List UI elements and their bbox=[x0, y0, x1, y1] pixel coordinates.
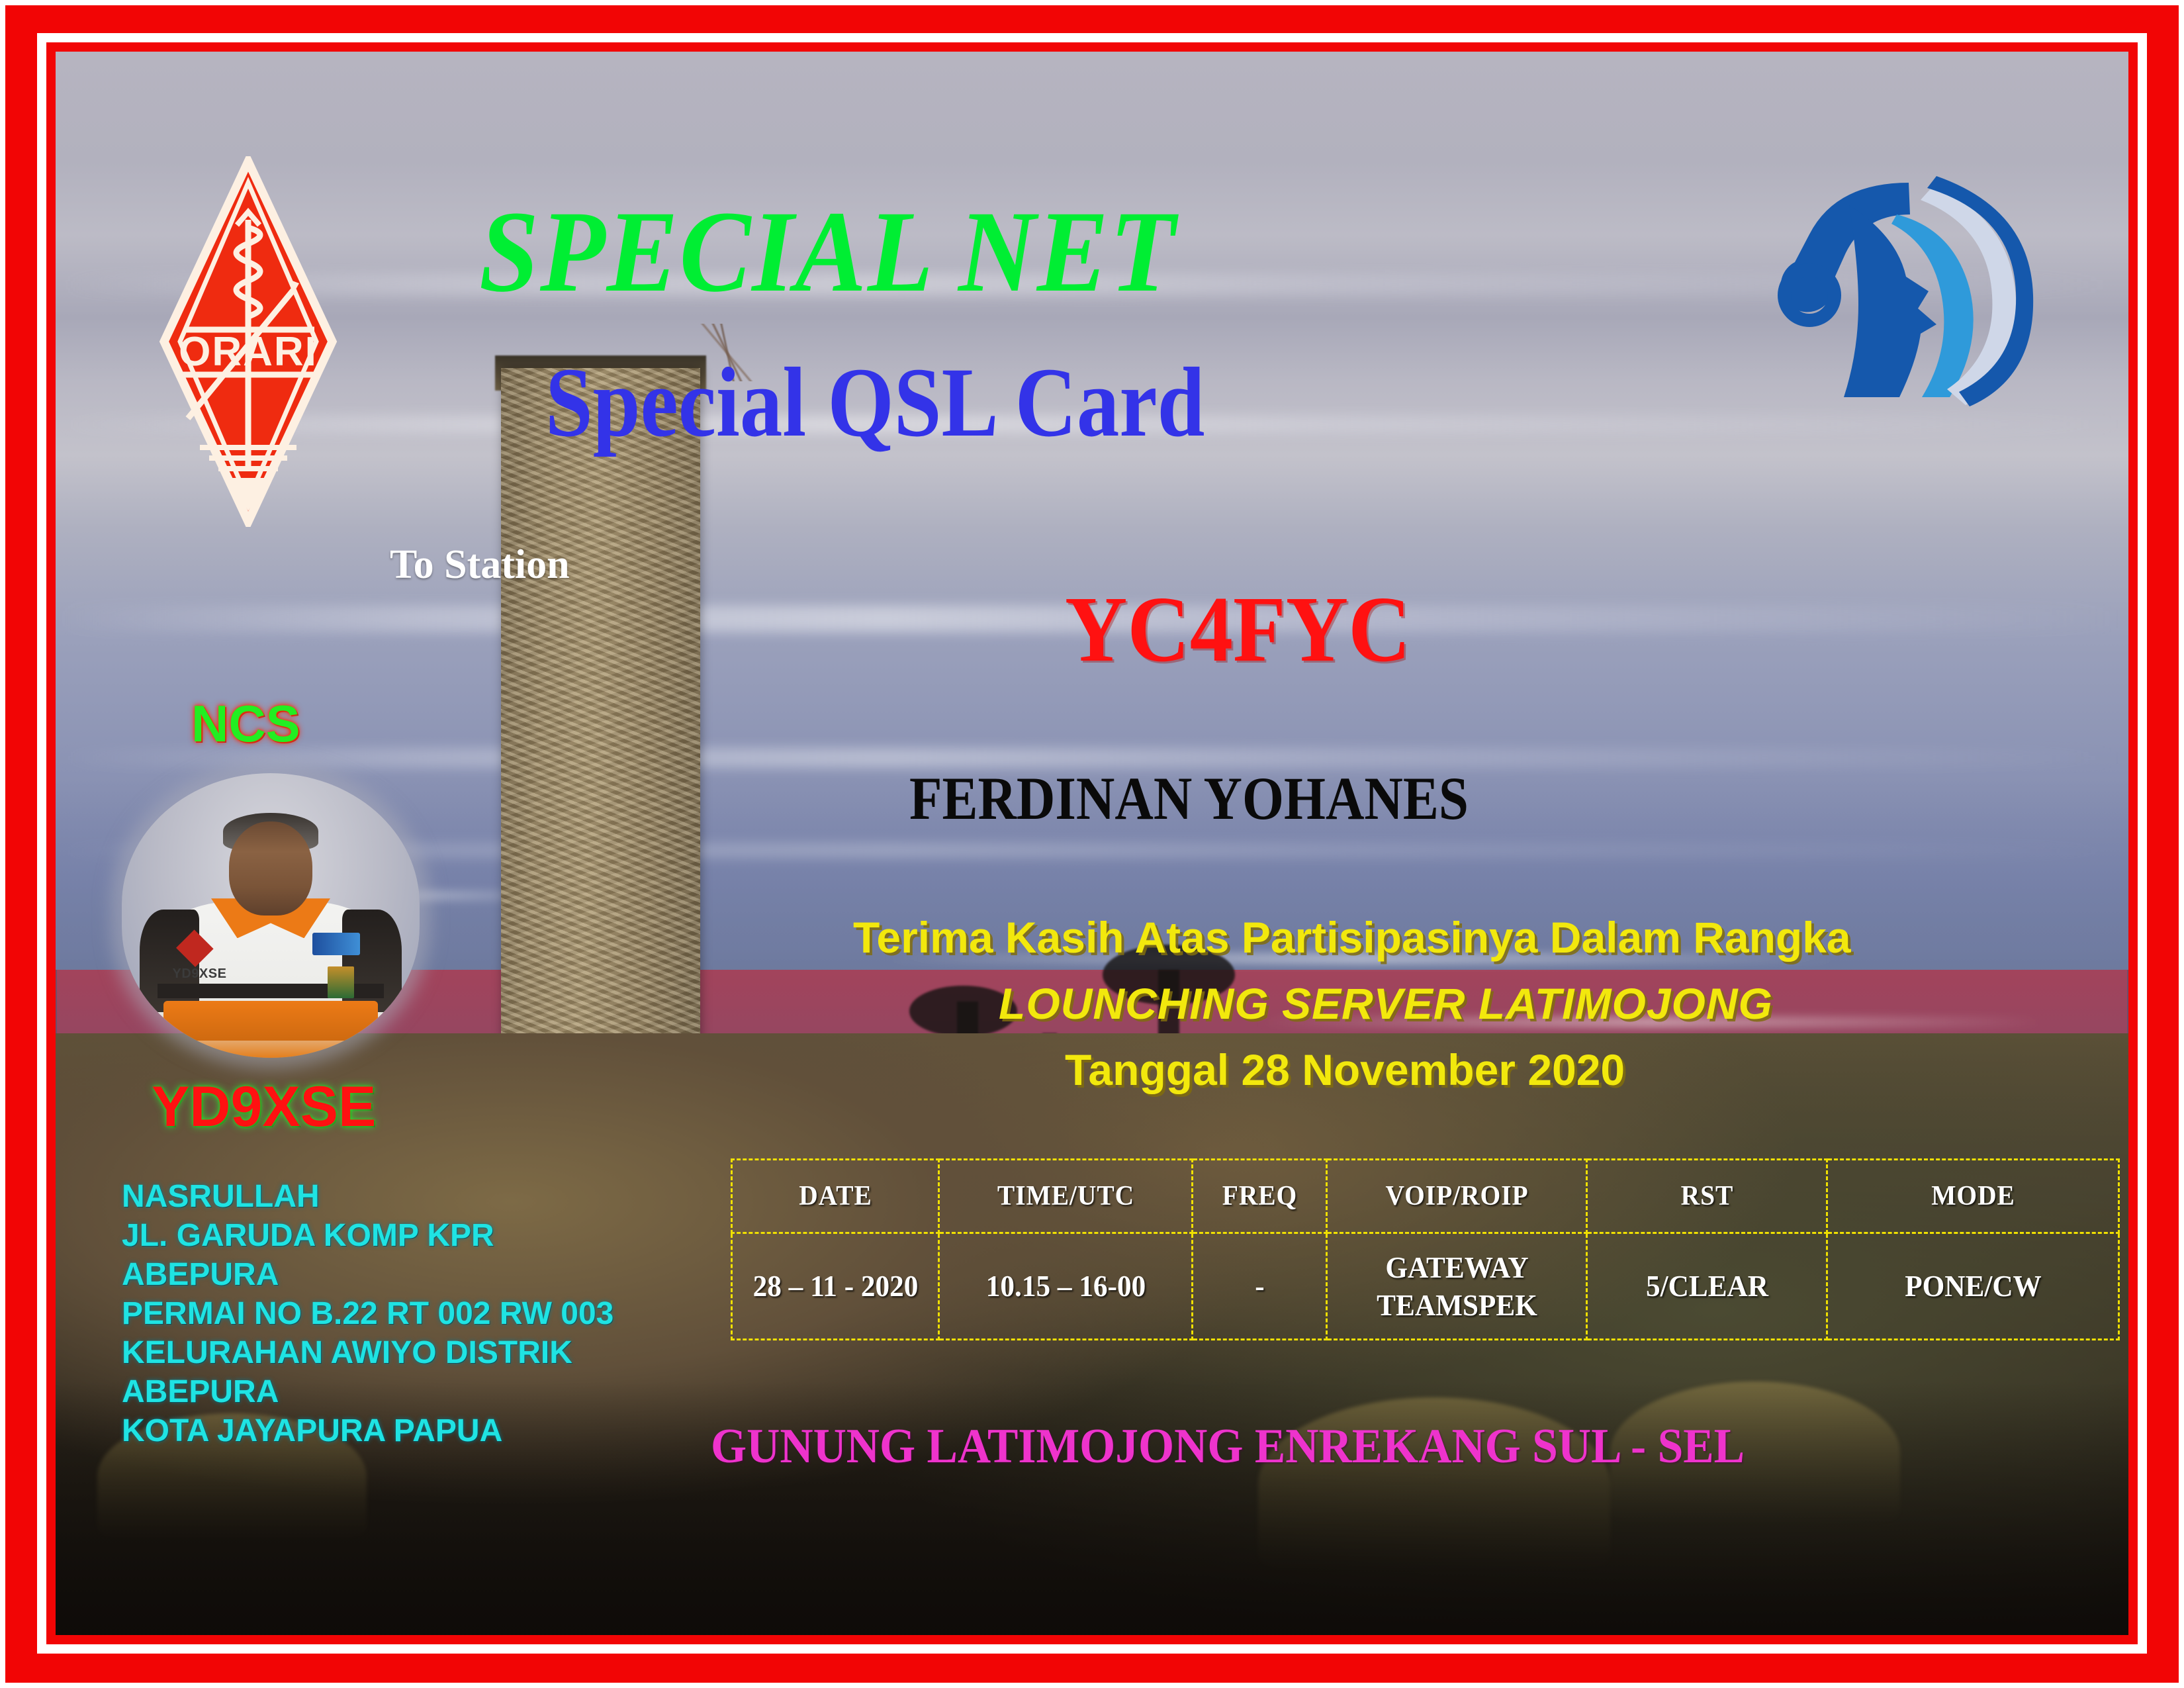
echolink-logo bbox=[1771, 158, 2036, 409]
avatar: YD9XSE bbox=[122, 773, 420, 1058]
page-subtitle: Special QSL Card bbox=[545, 353, 1205, 452]
ncs-portrait: YD9XSE bbox=[122, 773, 420, 1058]
table-header-row: DATE TIME/UTC FREQ VOIP/ROIP RST MODE bbox=[732, 1160, 2119, 1233]
address-line: ABEPURA bbox=[122, 1255, 614, 1294]
column-header-date: DATE bbox=[738, 1160, 933, 1233]
cell-voip-line1: GATEWAY bbox=[1336, 1248, 1578, 1287]
column-header-freq: FREQ bbox=[1197, 1160, 1323, 1233]
page-title: SPECIAL NET bbox=[479, 194, 1176, 310]
cell-date: 28 – 11 - 2020 bbox=[738, 1233, 933, 1340]
portrait-sash bbox=[163, 1001, 378, 1041]
thanks-line: Terima Kasih Atas Partisipasinya Dalam R… bbox=[853, 912, 1851, 962]
portrait-callsign-patch: YD9XSE bbox=[173, 966, 227, 982]
cell-time: 10.15 – 16-00 bbox=[946, 1233, 1185, 1340]
cell-rst: 5/CLEAR bbox=[1594, 1233, 1819, 1340]
portrait-face bbox=[229, 821, 312, 915]
column-header-mode: MODE bbox=[1836, 1160, 2111, 1233]
cell-mode: PONE/CW bbox=[1836, 1233, 2111, 1340]
address-line: KOTA JAYAPURA PAPUA bbox=[122, 1411, 614, 1450]
cell-voip-line2: TEAMSPEK bbox=[1336, 1286, 1578, 1325]
column-header-voip: VOIP/ROIP bbox=[1334, 1160, 1578, 1233]
address-line: ABEPURA bbox=[122, 1372, 614, 1411]
address-line: JL. GARUDA KOMP KPR bbox=[122, 1216, 614, 1255]
address-line: KELURAHAN AWIYO DISTRIK bbox=[122, 1333, 614, 1372]
event-line: LOUNCHING SERVER LATIMOJONG bbox=[999, 978, 1773, 1029]
to-station-label: To Station bbox=[390, 541, 570, 588]
address-line: NASRULLAH bbox=[122, 1177, 614, 1216]
event-date-line: Tanggal 28 November 2020 bbox=[1065, 1045, 1625, 1095]
portrait-chest-logo bbox=[312, 933, 360, 955]
qsl-card: ORARI SPECIAL NET Special QSL Card To St… bbox=[0, 0, 2184, 1688]
sender-address: NASRULLAH JL. GARUDA KOMP KPR ABEPURA PE… bbox=[122, 1177, 614, 1450]
ncs-callsign: YD9XSE bbox=[152, 1074, 376, 1140]
recipient-callsign: YC4FYC bbox=[1065, 575, 1411, 683]
column-header-time: TIME/UTC bbox=[946, 1160, 1185, 1233]
table-row: 28 – 11 - 2020 10.15 – 16-00 - GATEWAY T… bbox=[732, 1233, 2119, 1340]
cell-freq: - bbox=[1197, 1233, 1323, 1340]
background-photograph: ORARI SPECIAL NET Special QSL Card To St… bbox=[56, 52, 2128, 1635]
column-header-rst: RST bbox=[1594, 1160, 1819, 1233]
ncs-label: NCS bbox=[191, 694, 300, 754]
location-line: GUNUNG LATIMOJONG ENREKANG SUL - SEL bbox=[711, 1419, 1745, 1475]
address-line: PERMAI NO B.22 RT 002 RW 003 bbox=[122, 1294, 614, 1333]
cell-voip: GATEWAY TEAMSPEK bbox=[1334, 1233, 1578, 1340]
qso-log-table: DATE TIME/UTC FREQ VOIP/ROIP RST MODE 28… bbox=[731, 1158, 2120, 1340]
orari-logo: ORARI bbox=[159, 156, 338, 527]
portrait-id-card bbox=[328, 966, 355, 998]
operator-name: FERDINAN YOHANES bbox=[909, 763, 1469, 833]
svg-text:ORARI: ORARI bbox=[179, 329, 318, 375]
